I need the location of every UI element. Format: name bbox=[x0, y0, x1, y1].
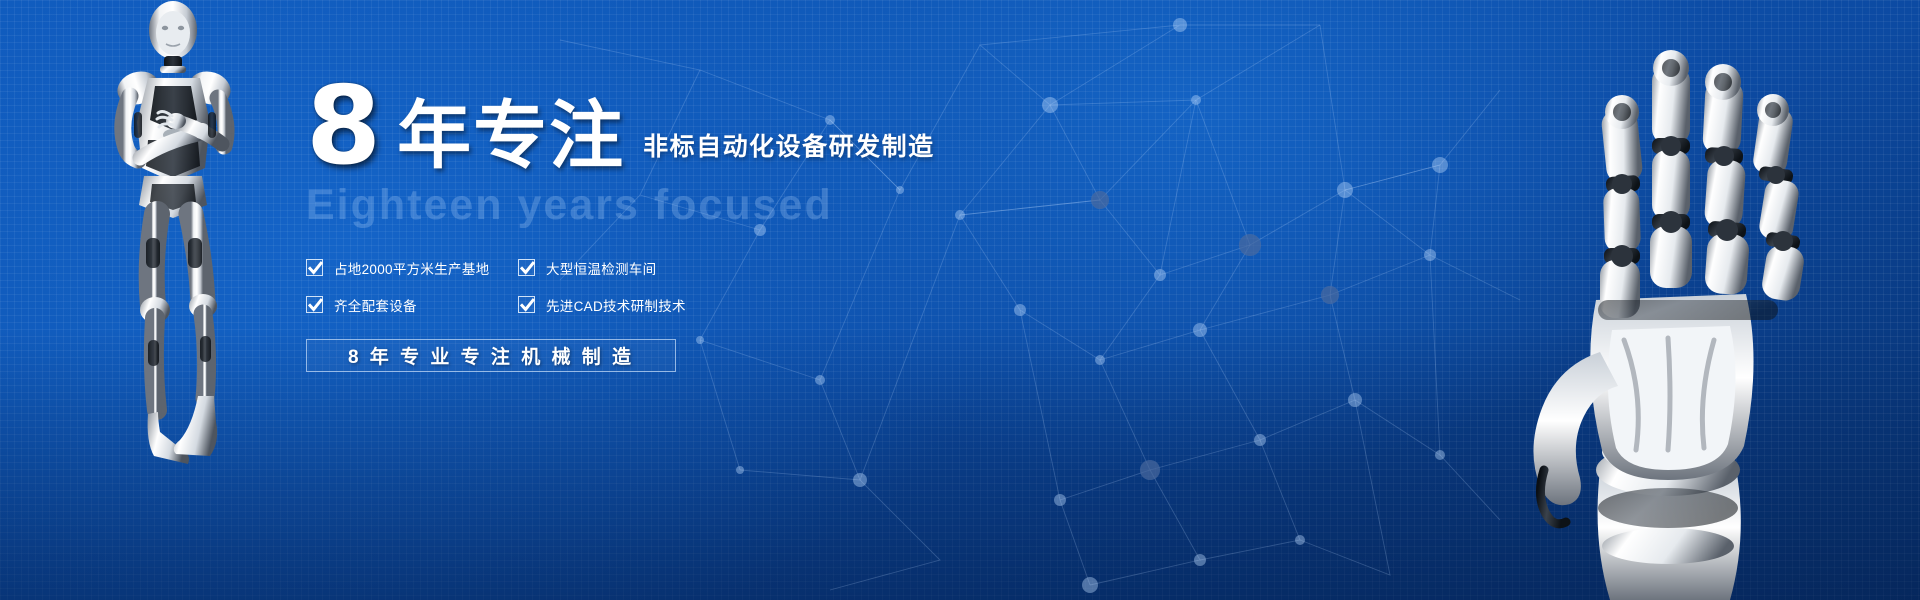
hero-banner: 8 年专注 非标自动化设备研发制造 Eighteen years focused… bbox=[0, 0, 1920, 600]
checkmark-icon bbox=[518, 296, 535, 313]
feature-item: 齐全配套设备 bbox=[306, 295, 518, 315]
headline-subtitle: 非标自动化设备研发制造 bbox=[643, 127, 935, 175]
banner-content: 8 年专注 非标自动化设备研发制造 Eighteen years focused… bbox=[306, 72, 1066, 372]
robotic-hand-graphic bbox=[1500, 0, 1920, 600]
checkmark-icon bbox=[306, 259, 323, 276]
feature-label: 占地2000平方米生产基地 bbox=[334, 258, 489, 278]
headline-number: 8 bbox=[306, 76, 379, 179]
headline-row: 8 年专注 非标自动化设备研发制造 bbox=[306, 72, 1066, 175]
feature-label: 先进CAD技术研制技术 bbox=[546, 295, 686, 315]
feature-item: 占地2000平方米生产基地 bbox=[306, 258, 518, 278]
feature-item: 大型恒温检测车间 bbox=[518, 258, 726, 278]
feature-label: 齐全配套设备 bbox=[334, 295, 417, 315]
humanoid-robot-graphic bbox=[60, 0, 290, 490]
ghost-english-text: Eighteen years focused bbox=[306, 181, 1066, 230]
feature-list: 占地2000平方米生产基地 大型恒温检测车间 齐全配套设备 先进CAD技术研制技… bbox=[306, 258, 726, 315]
feature-label: 大型恒温检测车间 bbox=[546, 258, 656, 278]
checkmark-icon bbox=[306, 296, 323, 313]
feature-item: 先进CAD技术研制技术 bbox=[518, 295, 726, 315]
headline-chinese: 年专注 bbox=[397, 99, 625, 173]
checkmark-icon bbox=[518, 259, 535, 276]
cta-button-label: 8 年 专 业 专 注 机 械 制 造 bbox=[348, 342, 634, 369]
cta-button[interactable]: 8 年 专 业 专 注 机 械 制 造 bbox=[306, 339, 676, 372]
